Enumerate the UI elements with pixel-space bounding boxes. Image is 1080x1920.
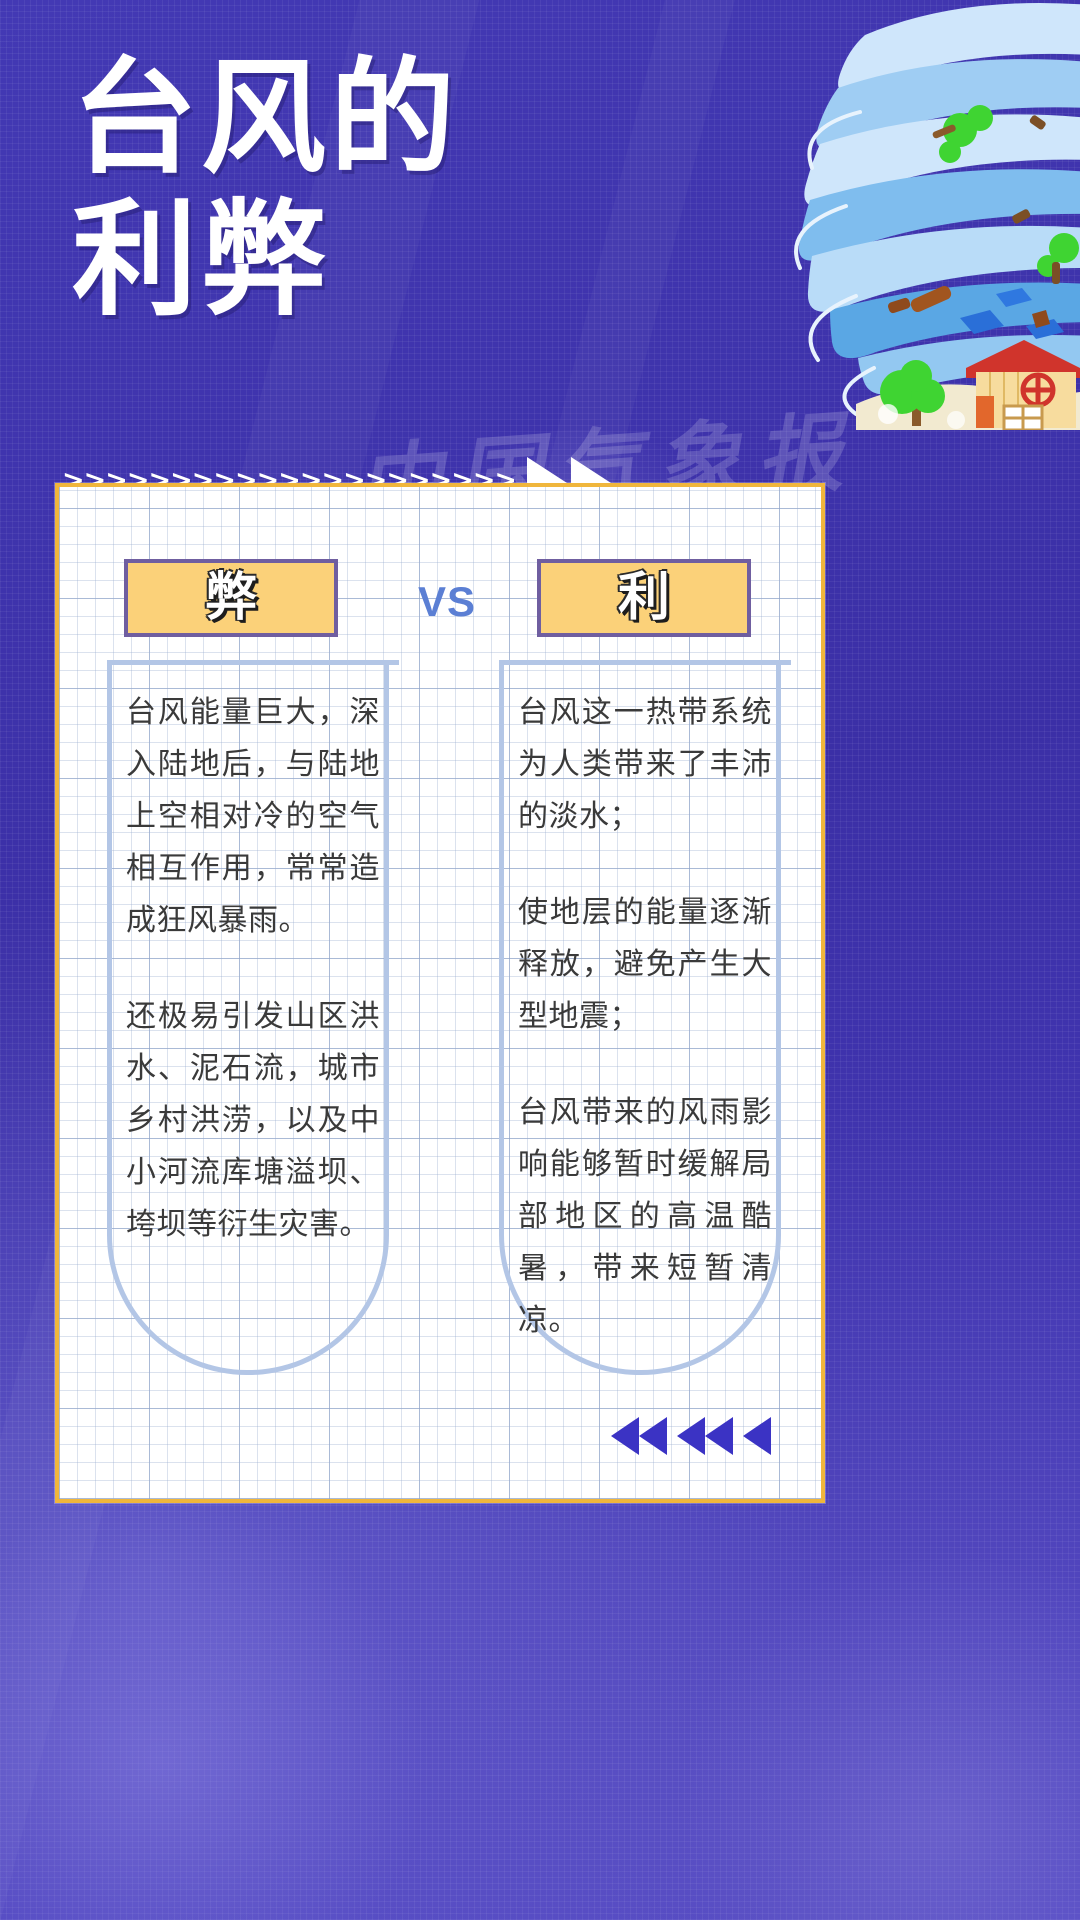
badge-con: 弊 (124, 559, 338, 637)
panel-con-body: 台风能量巨大，深入陆地后，与陆地上空相对冷的空气相互作用，常常造成狂风暴雨。 还… (126, 687, 380, 1251)
panel-pro-cap (499, 660, 791, 665)
badge-pro-label: 利 (618, 570, 670, 626)
tornado-illustration (660, 0, 1080, 430)
panel-pro: 台风这一热带系统为人类带来了丰沛的淡水； 使地层的能量逐渐释放，避免产生大型地震… (499, 665, 781, 1375)
rewind-arrows-icon (605, 1415, 775, 1457)
title-line-1: 台风的 (72, 48, 592, 190)
content-card: 弊 VS 利 台风能量巨大，深入陆地后，与陆地上空相对冷的空气相互作用，常常造成… (55, 483, 825, 1503)
page-title: 台风的 利弊 (72, 48, 592, 332)
poster-root: 台风的 利弊 >>>>>>>>>>>>>>>>>>>>>>>>>>>>>> 中国… (0, 0, 1080, 1920)
pro-paragraph-3: 台风带来的风雨影响能够暂时缓解局部地区的高温酷暑，带来短暂清凉。 (518, 1087, 772, 1347)
badge-pro: 利 (537, 559, 751, 637)
panel-pro-body: 台风这一热带系统为人类带来了丰沛的淡水； 使地层的能量逐渐释放，避免产生大型地震… (518, 687, 772, 1347)
con-paragraph-1: 台风能量巨大，深入陆地后，与陆地上空相对冷的空气相互作用，常常造成狂风暴雨。 (126, 687, 380, 947)
panel-con-cap (107, 660, 399, 665)
pro-paragraph-1: 台风这一热带系统为人类带来了丰沛的淡水； (518, 687, 772, 843)
pro-paragraph-2: 使地层的能量逐渐释放，避免产生大型地震； (518, 887, 772, 1043)
poster-header: 台风的 利弊 >>>>>>>>>>>>>>>>>>>>>>>>>>>>>> 中国… (0, 0, 1080, 520)
panel-con: 台风能量巨大，深入陆地后，与陆地上空相对冷的空气相互作用，常常造成狂风暴雨。 还… (107, 665, 389, 1375)
vs-label: VS (399, 579, 495, 625)
title-line-2: 利弊 (72, 190, 592, 332)
badge-con-label: 弊 (205, 570, 257, 626)
con-paragraph-2: 还极易引发山区洪水、泥石流，城市乡村洪涝，以及中小河流库塘溢坝、垮坝等衍生灾害。 (126, 991, 380, 1251)
background-blob (0, 1480, 440, 1920)
background-blob (640, 1560, 1080, 1920)
